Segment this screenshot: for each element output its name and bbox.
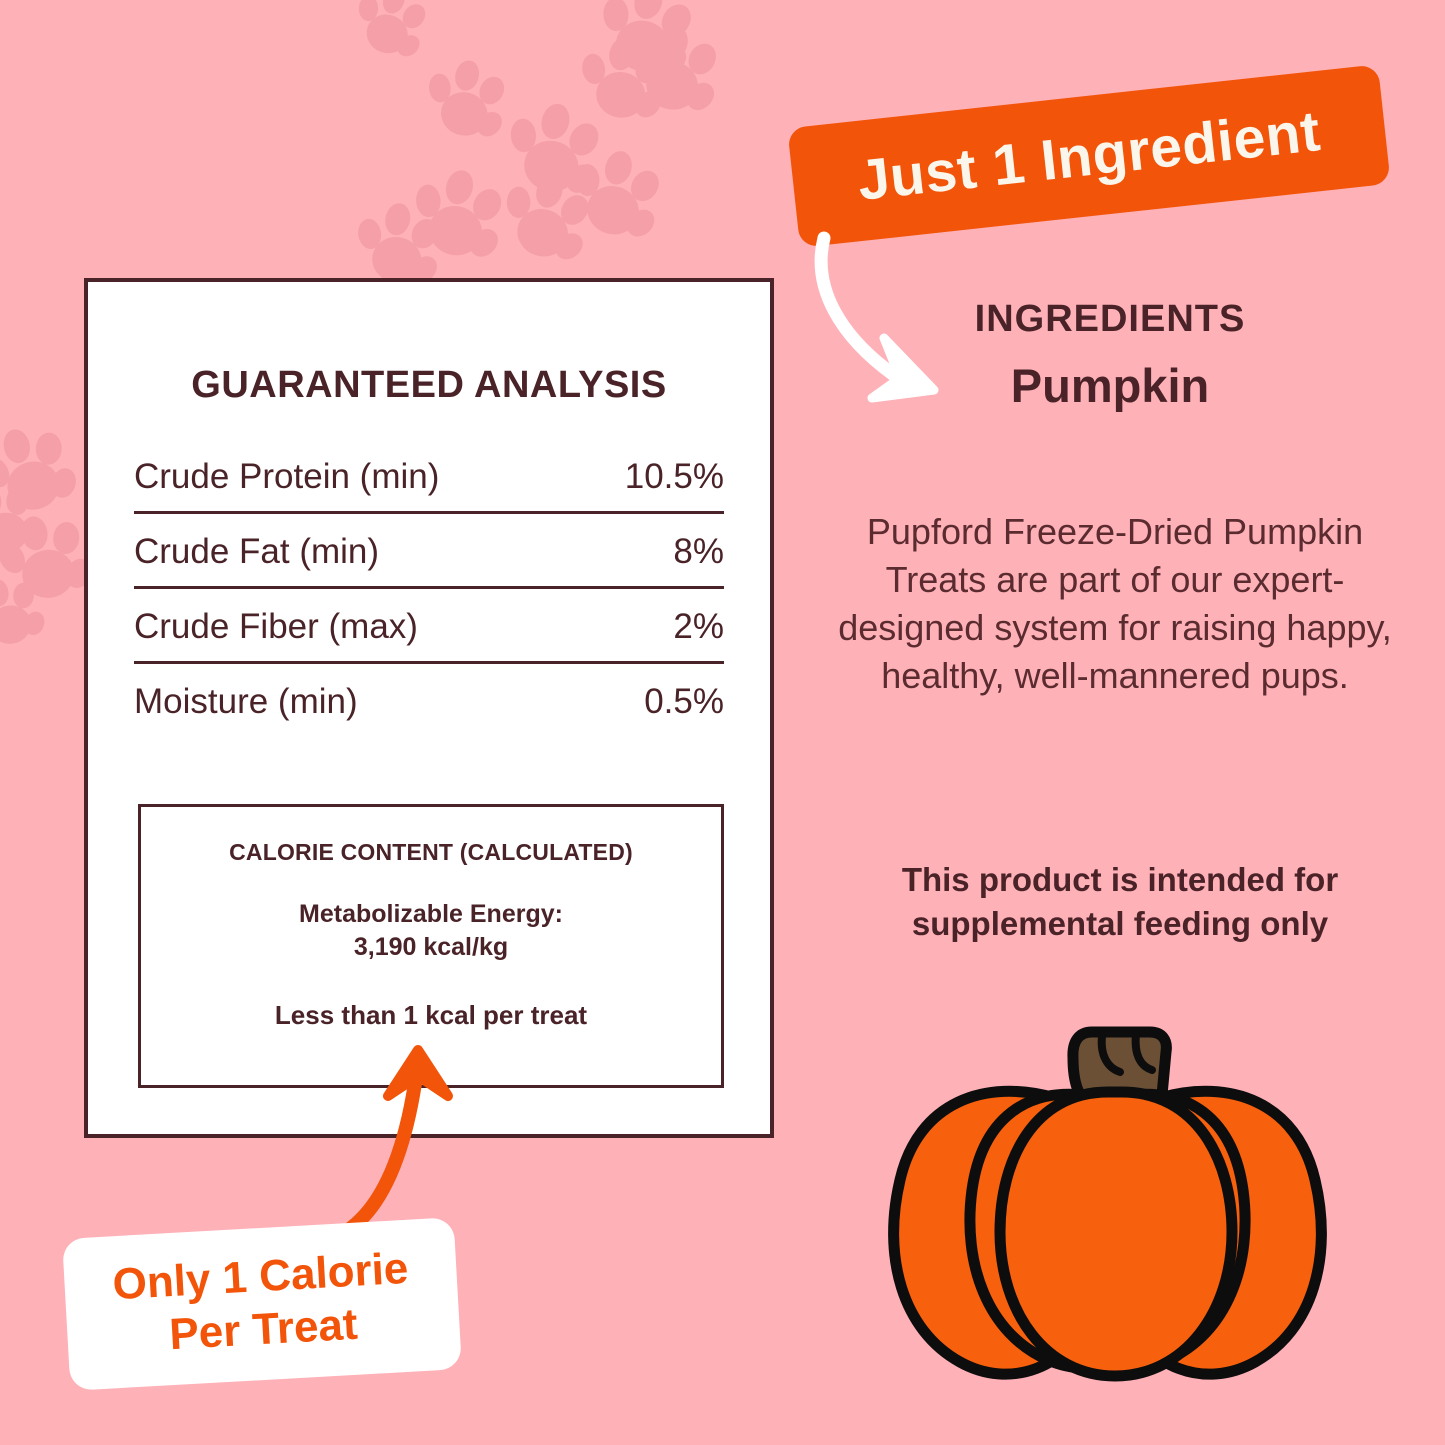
only-one-calorie-badge-line2: Per Treat — [168, 1299, 359, 1362]
supplemental-feeding-note: This product is intended for supplementa… — [860, 858, 1380, 946]
table-row: Crude Fat (min) 8% — [134, 514, 724, 589]
guaranteed-analysis-panel: GUARANTEED ANALYSIS Crude Protein (min) … — [84, 278, 774, 1138]
ingredients-heading: INGREDIENTS — [800, 298, 1420, 341]
table-row: Crude Fiber (max) 2% — [134, 589, 724, 664]
metabolizable-energy-label: Metabolizable Energy: — [141, 898, 721, 931]
just-one-ingredient-badge-label: Just 1 Ingredient — [854, 98, 1323, 214]
just-one-ingredient-badge: Just 1 Ingredient — [787, 64, 1390, 247]
table-row: Moisture (min) 0.5% — [134, 664, 724, 736]
row-label: Crude Fat (min) — [134, 532, 379, 572]
row-value: 2% — [673, 607, 724, 647]
row-value: 8% — [673, 532, 724, 572]
product-description: Pupford Freeze-Dried Pumpkin Treats are … — [815, 508, 1415, 700]
row-label: Crude Fiber (max) — [134, 607, 418, 647]
guaranteed-analysis-title: GUARANTEED ANALYSIS — [88, 364, 770, 407]
table-row: Crude Protein (min) 10.5% — [134, 451, 724, 514]
calories-per-treat-text: Less than 1 kcal per treat — [141, 1000, 721, 1031]
row-label: Crude Protein (min) — [134, 457, 439, 497]
row-value: 0.5% — [644, 682, 724, 722]
row-value: 10.5% — [625, 457, 724, 497]
ingredients-value: Pumpkin — [800, 358, 1420, 413]
guaranteed-analysis-table: Crude Protein (min) 10.5% Crude Fat (min… — [134, 451, 724, 736]
infographic-canvas: Just 1 Ingredient INGREDIENTS Pumpkin Pu… — [0, 0, 1445, 1445]
only-one-calorie-badge-line1: Only 1 Calorie — [111, 1243, 409, 1312]
metabolizable-energy-value: 3,190 kcal/kg — [141, 931, 721, 964]
calorie-content-box: CALORIE CONTENT (CALCULATED) Metabolizab… — [138, 804, 724, 1088]
only-one-calorie-badge: Only 1 Calorie Per Treat — [62, 1217, 462, 1391]
row-label: Moisture (min) — [134, 682, 358, 722]
calorie-content-heading: CALORIE CONTENT (CALCULATED) — [141, 839, 721, 866]
